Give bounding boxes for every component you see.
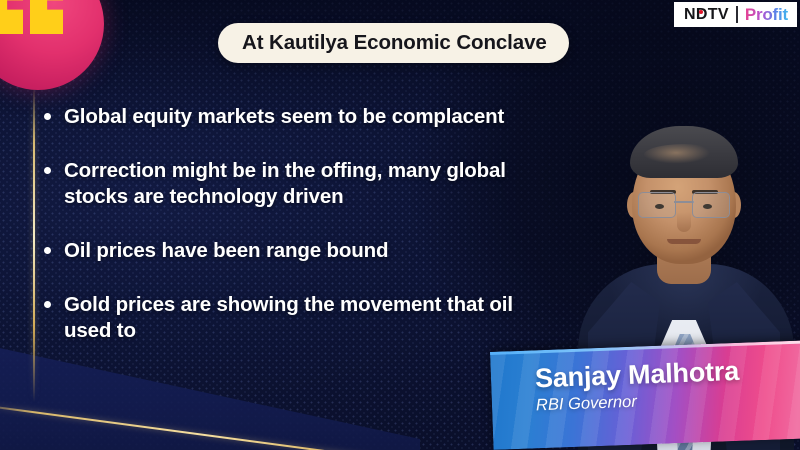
bullet-text: Oil prices have been range bound: [64, 238, 388, 265]
portrait-nose: [677, 212, 691, 232]
list-item: Gold prices are showing the movement tha…: [44, 292, 564, 345]
bullet-dot-icon: [44, 167, 51, 174]
ndtv-profit-logo: NDTV Profit: [674, 2, 797, 27]
headline-banner: At Kautilya Economic Conclave: [218, 23, 569, 63]
gold-vertical-accent-line: [33, 86, 35, 402]
bullet-dot-icon: [44, 247, 51, 254]
portrait-mouth: [667, 239, 701, 244]
quotation-mark-icon: [0, 0, 68, 36]
logo-divider: [736, 6, 738, 23]
profit-wordmark: Profit: [745, 5, 788, 25]
bullet-text: Global equity markets seem to be complac…: [64, 104, 504, 131]
list-item: Global equity markets seem to be complac…: [44, 104, 564, 131]
bullet-dot-icon: [44, 113, 51, 120]
headline-text: At Kautilya Economic Conclave: [242, 31, 547, 55]
lower-third-nameplate: Sanjay Malhotra RBI Governor: [490, 340, 800, 450]
ndtv-wordmark: NDTV: [684, 6, 729, 24]
bullet-text: Correction might be in the offing, many …: [64, 158, 564, 211]
ndtv-red-dot-icon: [699, 10, 703, 14]
bullet-text: Gold prices are showing the movement tha…: [64, 292, 564, 345]
bullet-list: Global equity markets seem to be complac…: [44, 104, 564, 345]
list-item: Oil prices have been range bound: [44, 238, 564, 265]
nameplate-text-group: Sanjay Malhotra RBI Governor: [534, 353, 800, 415]
list-item: Correction might be in the offing, many …: [44, 158, 564, 211]
ndtv-wordmark-text: NDTV: [684, 6, 729, 23]
broadcast-graphic: At Kautilya Economic Conclave NDTV Profi…: [0, 0, 800, 450]
bullet-dot-icon: [44, 301, 51, 308]
